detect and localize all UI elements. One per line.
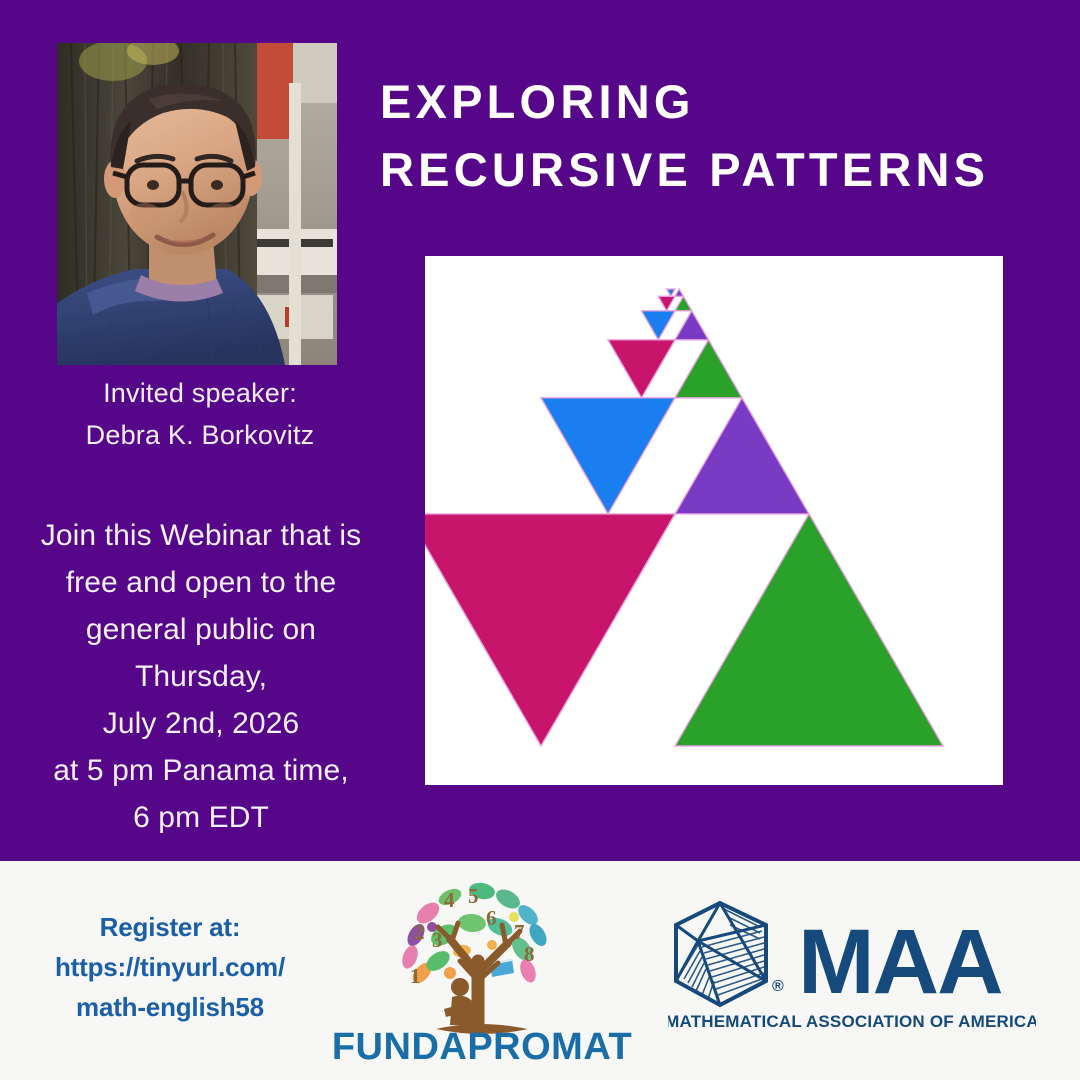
fractal-triangle-up-4 bbox=[675, 296, 692, 311]
polyhedron-icon bbox=[676, 903, 766, 1005]
fractal-triangle-down-2 bbox=[608, 340, 675, 398]
webinar-date: July 2nd, 2026 bbox=[0, 700, 402, 747]
webinar-time-panama: at 5 pm Panama time, bbox=[0, 747, 402, 794]
webinar-details: Join this Webinar that is free and open … bbox=[0, 512, 402, 841]
fundapromat-logo-graphic: 1 2 3 4 5 6 7 8 9 bbox=[332, 877, 632, 1063]
invited-speaker-label: Invited speaker: bbox=[103, 378, 297, 408]
speaker-photo bbox=[57, 43, 337, 365]
fractal-triangle-up-3 bbox=[675, 311, 709, 340]
fractal-triangle-down-3 bbox=[642, 311, 676, 340]
fundapromat-logo: 1 2 3 4 5 6 7 8 9 bbox=[332, 877, 632, 1063]
fractal-triangle-up-1 bbox=[675, 398, 809, 514]
speaker-name: Debra K. Borkovitz bbox=[86, 420, 315, 450]
page-title: EXPLORING RECURSIVE PATTERNS bbox=[380, 68, 1040, 204]
register-url-line-1[interactable]: https://tinyurl.com/ bbox=[10, 947, 330, 987]
number-4: 4 bbox=[444, 888, 455, 912]
number-1: 1 bbox=[410, 964, 421, 988]
recursive-triangle-figure bbox=[425, 256, 1003, 785]
webinar-line: free and open to the bbox=[0, 559, 402, 606]
fractal-triangle-down-0 bbox=[425, 514, 675, 746]
footer-band: Register at: https://tinyurl.com/ math-e… bbox=[0, 861, 1080, 1080]
maa-logo: ® MAA MATHEMATICAL ASSOCIATION OF AMERIC… bbox=[668, 897, 1036, 1037]
register-label: Register at: bbox=[10, 907, 330, 947]
registered-mark: ® bbox=[772, 978, 784, 995]
webinar-poster: Invited speaker: Debra K. Borkovitz Join… bbox=[0, 0, 1080, 1080]
fractal-triangle-down-5 bbox=[667, 289, 675, 296]
maa-logo-graphic: ® MAA MATHEMATICAL ASSOCIATION OF AMERIC… bbox=[668, 897, 1036, 1037]
fractal-triangle-down-4 bbox=[658, 296, 675, 311]
number-5: 5 bbox=[468, 884, 479, 908]
maa-acronym: MAA bbox=[798, 911, 1002, 1013]
fractal-triangle-up-0 bbox=[675, 514, 943, 746]
webinar-time-edt: 6 pm EDT bbox=[0, 794, 402, 841]
register-url-line-2[interactable]: math-english58 bbox=[10, 987, 330, 1027]
webinar-line: Join this Webinar that is bbox=[0, 512, 402, 559]
fundapromat-wordmark: FUNDAPROMAT bbox=[332, 1026, 632, 1063]
maa-full-name: MATHEMATICAL ASSOCIATION OF AMERICA bbox=[668, 1012, 1036, 1031]
title-line-2: RECURSIVE PATTERNS bbox=[380, 136, 1040, 204]
speaker-caption: Invited speaker: Debra K. Borkovitz bbox=[0, 372, 400, 456]
number-2: 2 bbox=[414, 920, 425, 944]
webinar-line: Thursday, bbox=[0, 653, 402, 700]
child-reading-icon bbox=[444, 978, 474, 1025]
title-line-1: EXPLORING bbox=[380, 68, 1040, 136]
fractal-triangle-up-2 bbox=[675, 340, 742, 398]
speaker-portrait-graphic bbox=[57, 43, 337, 365]
fractal-triangle-down-1 bbox=[541, 398, 675, 514]
number-8: 8 bbox=[524, 942, 535, 966]
fractal-triangle-up-5 bbox=[675, 289, 683, 296]
recursive-triangle-graphic bbox=[425, 256, 1003, 785]
webinar-line: general public on bbox=[0, 606, 402, 653]
registration-info[interactable]: Register at: https://tinyurl.com/ math-e… bbox=[10, 907, 330, 1027]
number-6: 6 bbox=[486, 906, 497, 930]
